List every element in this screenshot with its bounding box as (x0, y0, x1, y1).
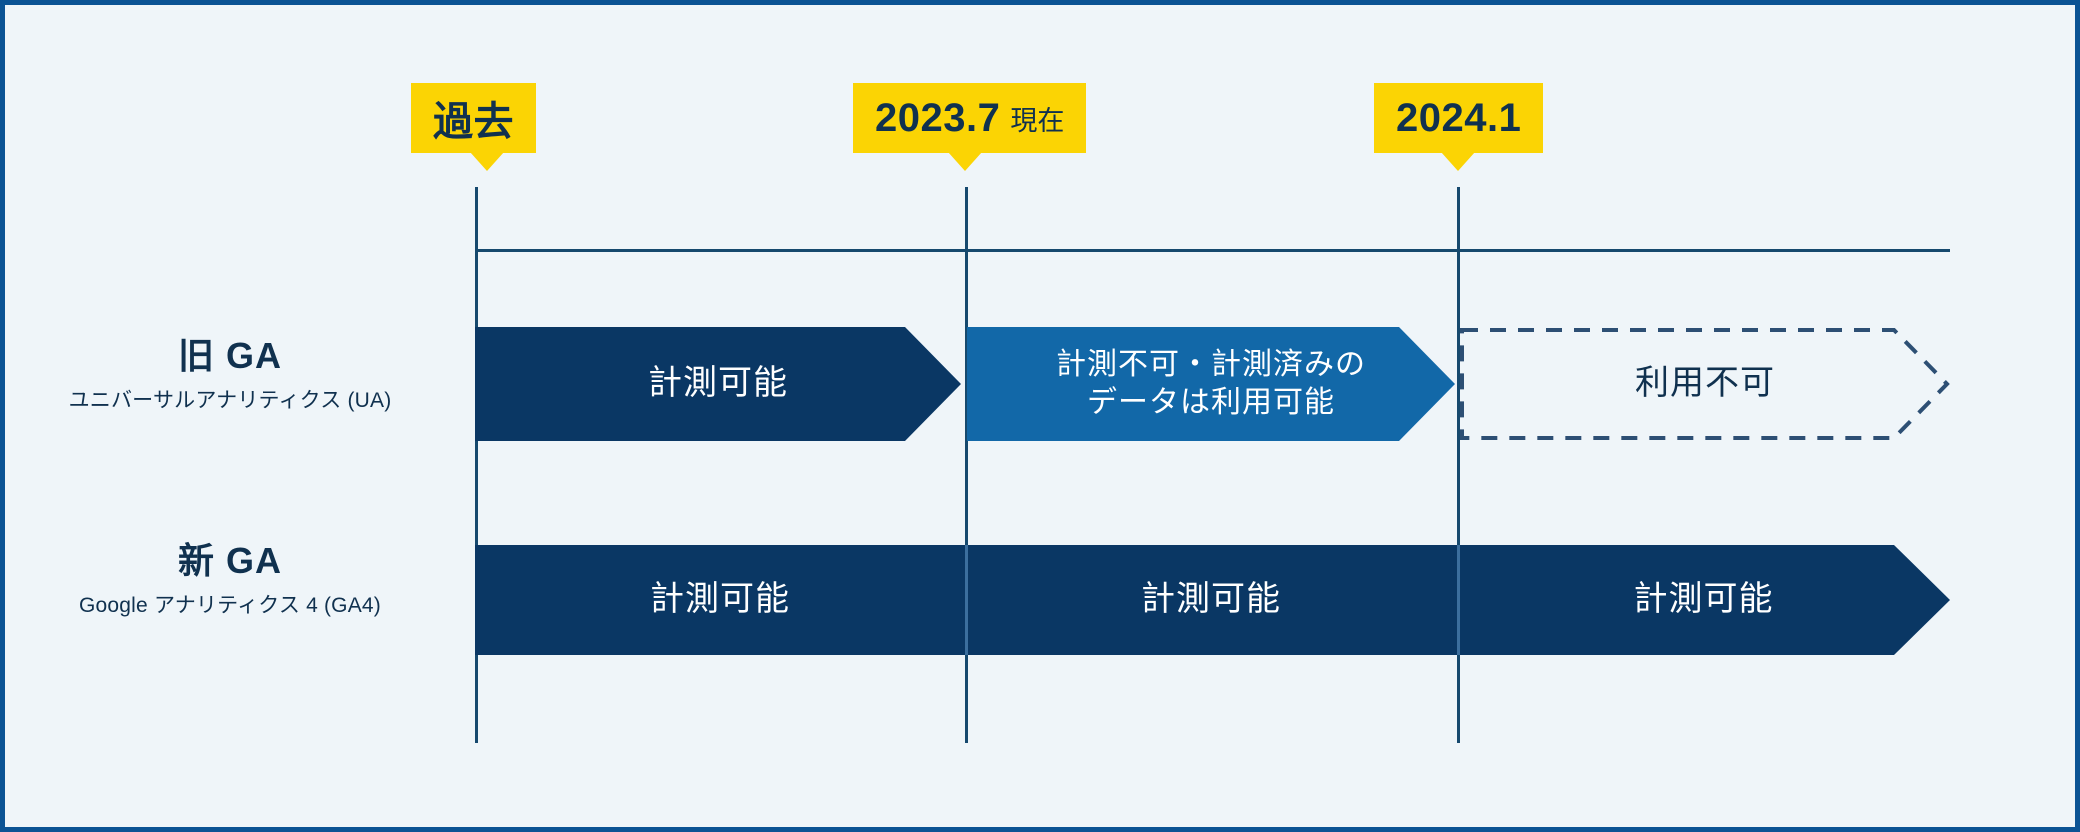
gridline-overlay-present (965, 545, 968, 655)
row-label-new-ga: 新 GA Google アナリティクス 4 (GA4) (5, 540, 455, 619)
timeline-gridline-future (1457, 187, 1460, 743)
segment-old-ga-present: 計測不可・計測済みの データは利用可能 (967, 327, 1455, 441)
marker-label-past: 過去 (433, 89, 514, 147)
segment-old-ga-past: 計測可能 (475, 327, 961, 441)
segment-old-ga-present-label: 計測不可・計測済みの データは利用可能 (1056, 346, 1366, 423)
segment-new-ga-present-label: 計測可能 (1141, 578, 1281, 622)
row-subtitle-new-ga: Google アナリティクス 4 (GA4) (5, 589, 455, 619)
timeline-gridline-present (965, 187, 968, 743)
row-title-new-ga: 新 GA (5, 540, 455, 581)
timeline-diagram: 過去 2023.7 現在 2024.1 旧 GA ユニバーサルアナリティクス (… (0, 0, 2080, 832)
marker-label-future: 2024.1 (1396, 96, 1521, 141)
gridline-overlay-future (1457, 545, 1460, 655)
row-label-old-ga: 旧 GA ユニバーサルアナリティクス (UA) (5, 335, 455, 414)
marker-badge-past: 過去 (411, 83, 536, 153)
row-subtitle-old-ga: ユニバーサルアナリティクス (UA) (5, 384, 455, 414)
marker-badge-present: 2023.7 現在 (853, 83, 1086, 153)
segment-new-ga-past-label: 計測可能 (650, 578, 790, 622)
marker-tail-past (470, 152, 504, 171)
marker-label-present: 2023.7 (875, 96, 1000, 141)
segment-new-ga-past: 計測可能 (475, 545, 965, 655)
segment-old-ga-future-label: 利用不可 (1635, 362, 1775, 406)
timeline-baseline (475, 249, 1950, 252)
segment-old-ga-past-label: 計測可能 (648, 362, 788, 406)
marker-sublabel-present: 現在 (1010, 99, 1064, 138)
row-title-old-ga: 旧 GA (5, 335, 455, 376)
segment-new-ga-future: 計測可能 (1457, 545, 1950, 655)
marker-tail-future (1441, 152, 1475, 171)
marker-tail-present (948, 152, 982, 171)
timeline-gridline-past (475, 187, 478, 743)
segment-old-ga-future: 利用不可 (1460, 327, 1950, 441)
segment-new-ga-present: 計測可能 (965, 545, 1457, 655)
marker-badge-future: 2024.1 (1374, 83, 1543, 153)
segment-new-ga-future-label: 計測可能 (1634, 578, 1774, 622)
